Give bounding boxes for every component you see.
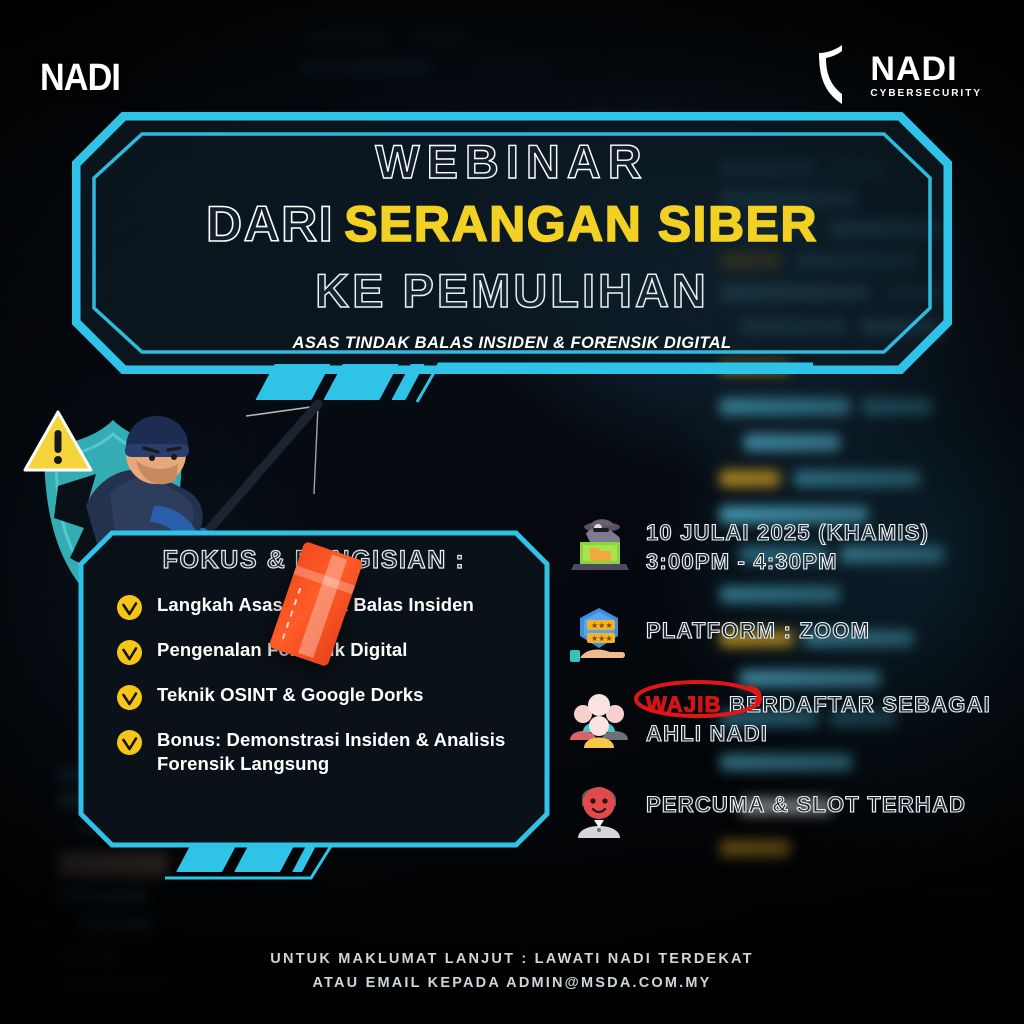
people-group-icon xyxy=(566,688,632,754)
list-item-label: Bonus: Demonstrasi Insiden & Analisis Fo… xyxy=(157,728,524,775)
list-item: Teknik OSINT & Google Dorks xyxy=(116,683,524,711)
info-platform-text: PLATFORM : ZOOM xyxy=(646,600,870,645)
title-line-ke-pemulihan: KE PEMULIHAN xyxy=(315,263,709,318)
info-datetime-text: 10 JULAI 2025 (KHAMIS) 3:00PM - 4:30PM xyxy=(646,512,929,576)
info-row-free-slots: PERCUMA & SLOT TERHAD xyxy=(566,776,1006,842)
footer-contact: UNTUK MAKLUMAT LANJUT : LAWATI NADI TERD… xyxy=(0,947,1024,996)
check-circle-icon xyxy=(116,594,143,621)
nadi-logo: NADI CYBERSECURITY xyxy=(816,44,982,106)
info-list: 10 JULAI 2025 (KHAMIS) 3:00PM - 4:30PM ★… xyxy=(566,512,1006,864)
info-row-registration: WAJIB BERDAFTAR SEBAGAI AHLI NADI xyxy=(566,688,1006,754)
footer-line-2: ATAU EMAIL KEPADA ADMIN@MSDA.COM.MY xyxy=(0,971,1024,996)
person-avatar-icon xyxy=(566,776,632,842)
event-time: 3:00PM - 4:30PM xyxy=(646,547,929,576)
hacker-laptop-icon xyxy=(566,512,632,578)
platform-label: PLATFORM : ZOOM xyxy=(646,616,870,645)
title-dari: DARI xyxy=(206,196,334,252)
title-block: WEBINAR DARISERANGAN SIBER KE PEMULIHAN … xyxy=(72,112,952,374)
info-free-slots-text: PERCUMA & SLOT TERHAD xyxy=(646,776,966,819)
title-line-webinar: WEBINAR xyxy=(375,134,649,189)
registration-line1: BERDAFTAR SEBAGAI xyxy=(729,692,991,717)
svg-text:★★★: ★★★ xyxy=(591,621,613,630)
info-row-platform: ★★★ ★★★ PLATFORM : ZOOM xyxy=(566,600,1006,666)
check-circle-icon xyxy=(116,684,143,711)
title-line-2: DARISERANGAN SIBER xyxy=(206,195,818,253)
info-row-datetime: 10 JULAI 2025 (KHAMIS) 3:00PM - 4:30PM xyxy=(566,512,1006,578)
wajib-label: WAJIB xyxy=(646,692,722,717)
logo-subtitle: CYBERSECURITY xyxy=(870,89,982,99)
list-item-label: Teknik OSINT & Google Dorks xyxy=(157,683,424,707)
registration-line2: AHLI NADI xyxy=(646,719,991,748)
shield-icon xyxy=(816,44,868,106)
deco-line-top xyxy=(415,360,815,406)
event-date: 10 JULAI 2025 (KHAMIS) xyxy=(646,518,929,547)
brand-wordmark: NADI xyxy=(40,57,120,100)
check-circle-icon xyxy=(116,729,143,756)
footer-line-1: UNTUK MAKLUMAT LANJUT : LAWATI NADI TERD… xyxy=(0,947,1024,972)
title-subtitle: ASAS TINDAK BALAS INSIDEN & FORENSIK DIG… xyxy=(293,334,732,353)
check-circle-icon xyxy=(116,639,143,666)
free-slots-label: PERCUMA & SLOT TERHAD xyxy=(646,790,966,819)
shield-hand-password-icon: ★★★ ★★★ xyxy=(566,600,632,666)
title-serangan-siber: SERANGAN SIBER xyxy=(344,196,818,252)
svg-text:★★★: ★★★ xyxy=(591,634,613,643)
warning-triangle-icon xyxy=(22,408,94,474)
list-item: Bonus: Demonstrasi Insiden & Analisis Fo… xyxy=(116,728,524,775)
wajib-highlight: WAJIB xyxy=(646,690,722,719)
logo-name: NADI xyxy=(870,52,982,86)
poster-canvas: NADI NADI CYBERSECURITY WEBINAR DARISERA… xyxy=(0,0,1024,1024)
info-registration-text: WAJIB BERDAFTAR SEBAGAI AHLI NADI xyxy=(646,688,991,748)
